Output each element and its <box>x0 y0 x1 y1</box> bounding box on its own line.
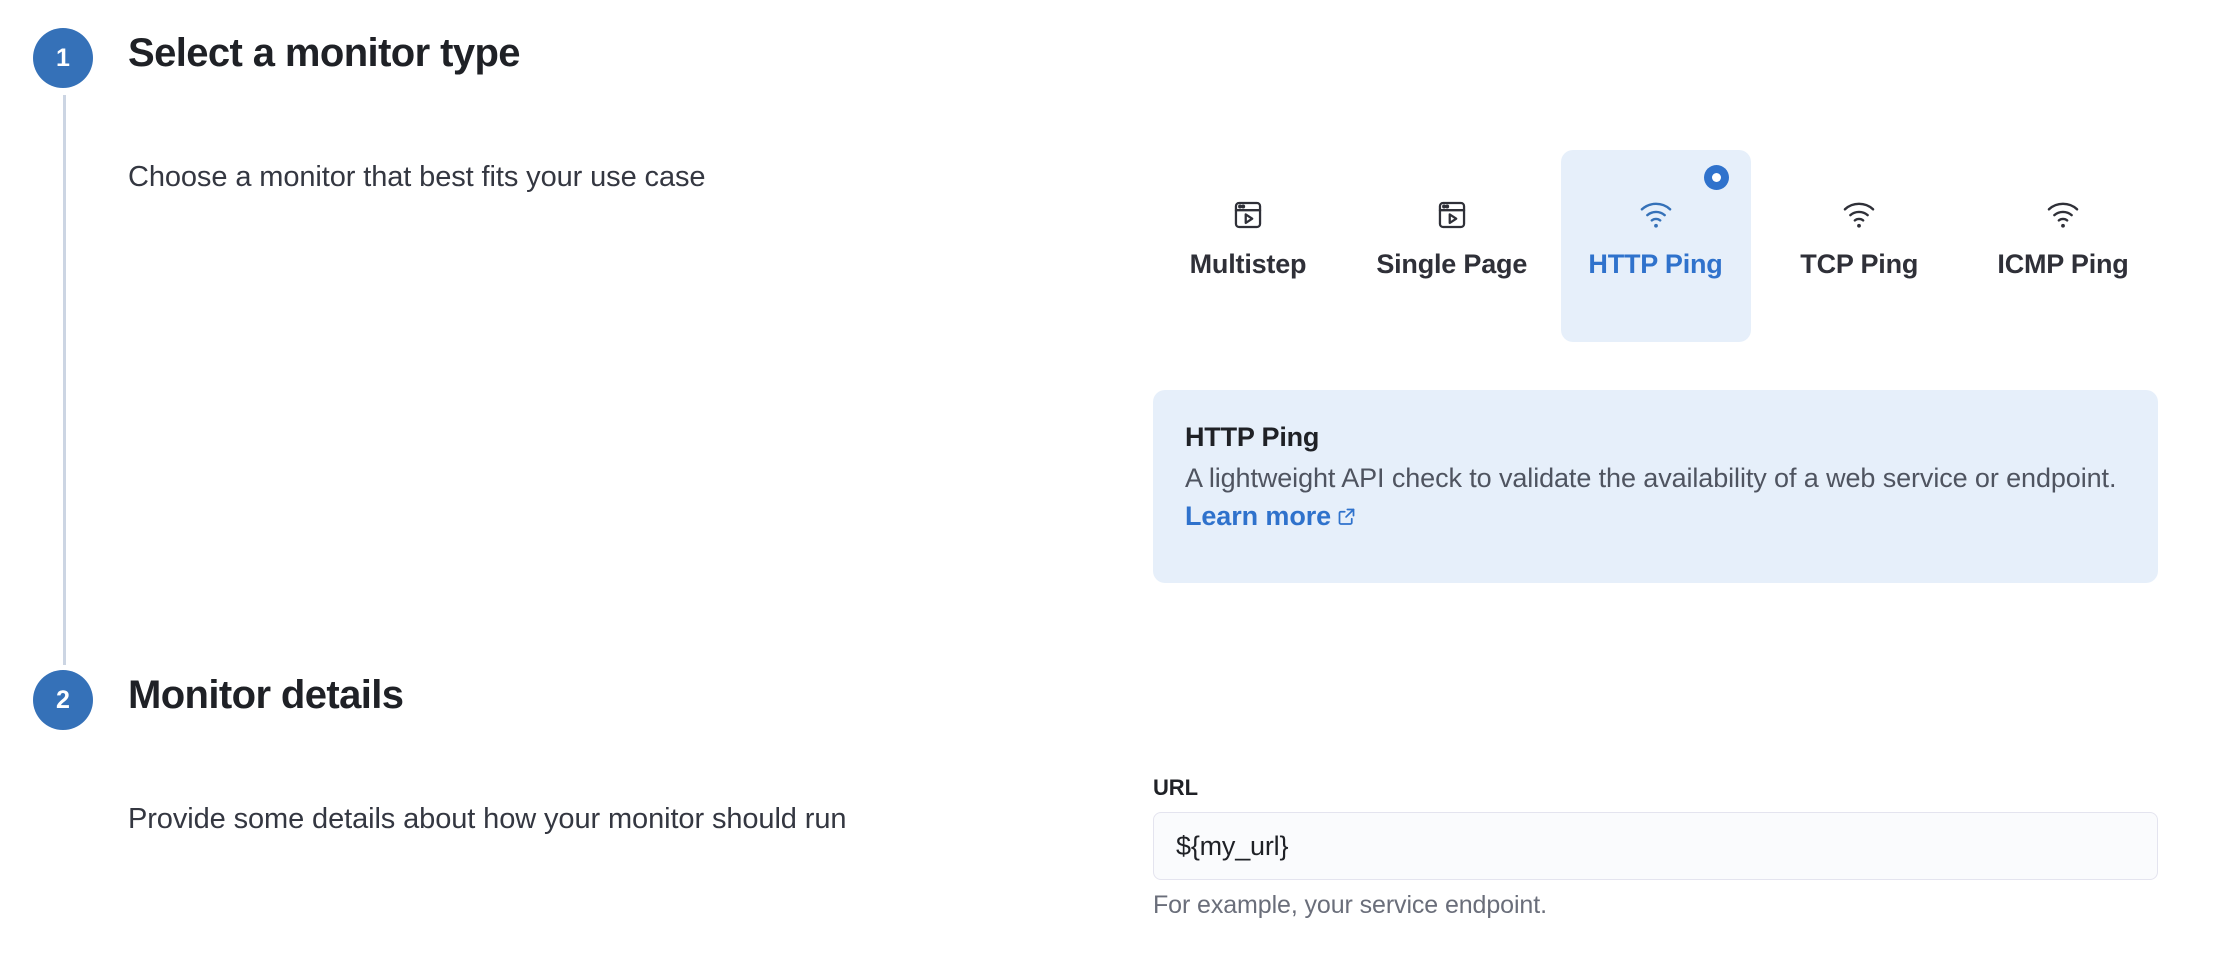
url-field-group: URL For example, your service endpoint. <box>1153 775 2158 920</box>
monitor-type-card-icmp-ping[interactable]: ICMP Ping <box>1968 150 2158 342</box>
wifi-ping-icon <box>1636 195 1676 235</box>
url-field-help-text: For example, your service endpoint. <box>1153 891 2158 920</box>
monitor-type-card-http-ping[interactable]: HTTP Ping <box>1561 150 1751 342</box>
monitor-setup-page: 1 Select a monitor type Choose a monitor… <box>0 0 2218 958</box>
wifi-ping-icon <box>1839 195 1879 235</box>
step-number-badge-1: 1 <box>33 28 93 88</box>
step-number-badge-2: 2 <box>33 670 93 730</box>
wifi-ping-icon <box>2043 195 2083 235</box>
callout-body-text: A lightweight API check to validate the … <box>1185 463 2116 493</box>
monitor-type-card-single-page[interactable]: Single Page <box>1357 150 1547 342</box>
stepper-connector-line <box>63 95 66 665</box>
monitor-type-label: HTTP Ping <box>1588 249 1722 280</box>
monitor-type-label: ICMP Ping <box>1997 249 2128 280</box>
monitor-type-label: Multistep <box>1190 249 1307 280</box>
monitor-type-label: Single Page <box>1376 249 1527 280</box>
step-title-1: Select a monitor type <box>128 31 520 76</box>
external-link-icon[interactable] <box>1336 499 1357 537</box>
url-input[interactable] <box>1153 812 2158 880</box>
callout-description: A lightweight API check to validate the … <box>1185 459 2125 538</box>
monitor-type-card-multistep[interactable]: Multistep <box>1153 150 1343 342</box>
step-description-2: Provide some details about how your moni… <box>128 803 846 836</box>
learn-more-link[interactable]: Learn more <box>1185 501 1331 531</box>
browser-play-icon <box>1228 195 1268 235</box>
radio-selected-indicator[interactable] <box>1704 165 1729 190</box>
step-description-1: Choose a monitor that best fits your use… <box>128 161 705 194</box>
url-field-label: URL <box>1153 775 2158 801</box>
monitor-type-label: TCP Ping <box>1800 249 1918 280</box>
monitor-type-selector: Multistep Single Page <box>1153 150 2158 342</box>
monitor-type-card-tcp-ping[interactable]: TCP Ping <box>1764 150 1954 342</box>
monitor-type-info-callout: HTTP Ping A lightweight API check to val… <box>1153 390 2158 583</box>
callout-title: HTTP Ping <box>1185 422 2126 453</box>
step-title-2: Monitor details <box>128 673 403 718</box>
browser-play-icon <box>1432 195 1472 235</box>
